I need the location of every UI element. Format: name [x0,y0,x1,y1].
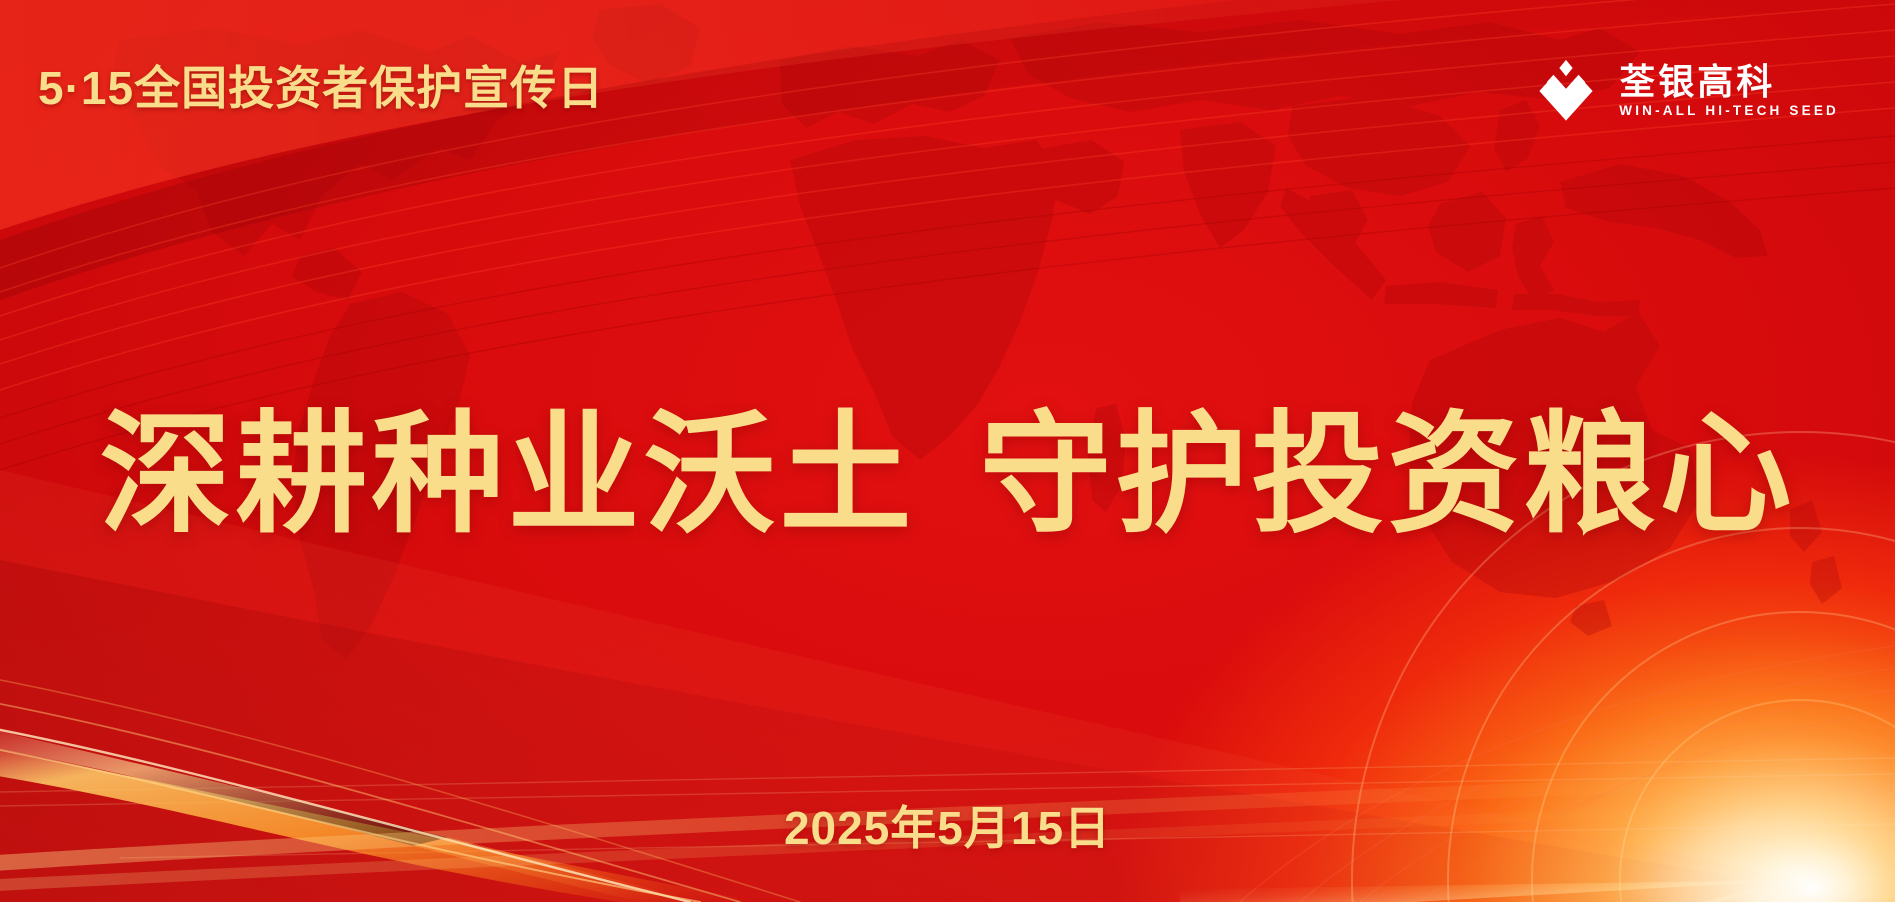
banner-content: 5·15全国投资者保护宣传日 荃银高科 WIN-ALL HI-TECH SEED… [0,0,1895,902]
headline-part-2: 守护投资粮心 [980,401,1796,548]
main-headline: 深耕种业沃土守护投资粮心 [0,398,1895,551]
winall-seed-chevron-icon [1529,54,1603,128]
company-logo: 荃银高科 WIN-ALL HI-TECH SEED [1529,54,1839,128]
logo-name-cn: 荃银高科 [1619,64,1839,100]
logo-name-en: WIN-ALL HI-TECH SEED [1619,104,1839,118]
logo-wordmark: 荃银高科 WIN-ALL HI-TECH SEED [1619,64,1839,118]
promotional-banner: 5·15全国投资者保护宣传日 荃银高科 WIN-ALL HI-TECH SEED… [0,0,1895,902]
event-kicker: 5·15全国投资者保护宣传日 [38,52,604,118]
headline-part-1: 深耕种业沃土 [100,401,916,548]
event-date: 2025年5月15日 [0,792,1895,858]
